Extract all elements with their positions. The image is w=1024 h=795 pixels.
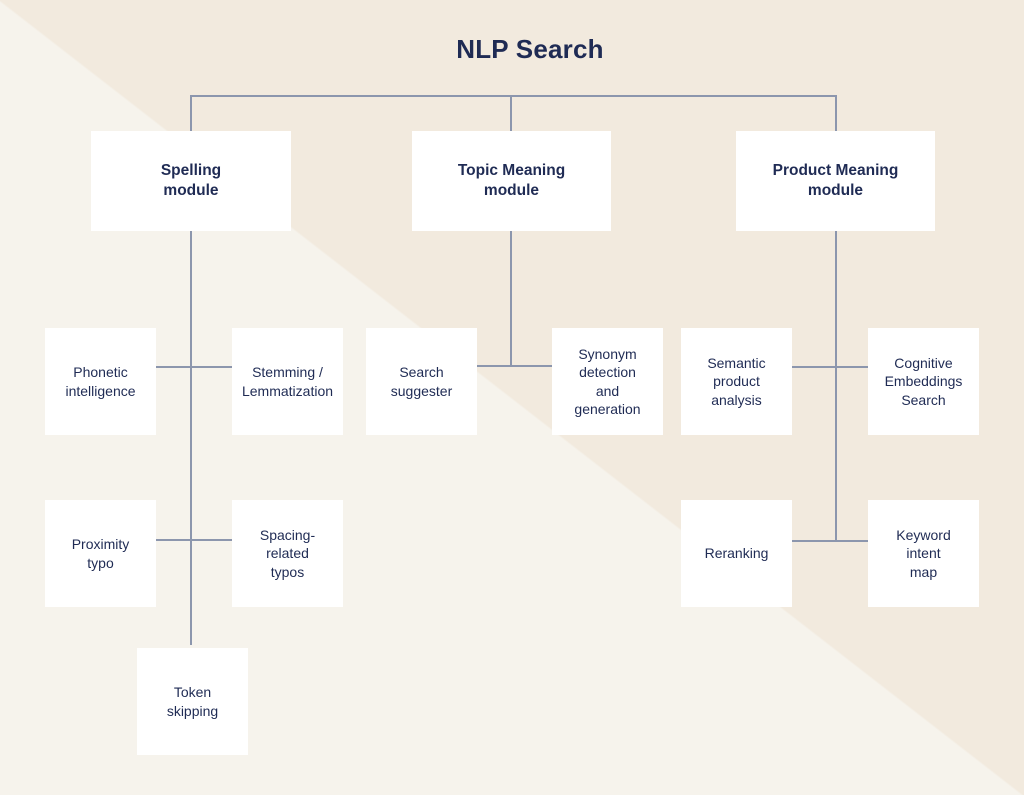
connector-branch-semantic-product-analysis — [792, 366, 835, 368]
module-box-product-meaning[interactable]: Product Meaning module — [736, 131, 935, 231]
leaf-box-proximity-typo[interactable]: Proximity typo — [45, 500, 156, 607]
connector-drop-product-meaning — [835, 95, 837, 132]
leaf-label-reranking: Reranking — [705, 544, 769, 562]
connector-branch-search-suggester — [477, 365, 511, 367]
leaf-box-semantic-product-analysis[interactable]: Semantic product analysis — [681, 328, 792, 435]
connector-branch-cognitive-embeddings-search — [835, 366, 869, 368]
leaf-box-search-suggester[interactable]: Search suggester — [366, 328, 477, 435]
connector-branch-stemming-lemmatization — [190, 366, 232, 368]
leaf-label-search-suggester: Search suggester — [391, 363, 452, 400]
connector-branch-keyword-intent-map — [835, 540, 869, 542]
leaf-box-cognitive-embeddings-search[interactable]: Cognitive Embeddings Search — [868, 328, 979, 435]
module-label-spelling: Spelling module — [161, 161, 221, 202]
connector-spine-topic-meaning — [510, 231, 512, 366]
module-label-product-meaning: Product Meaning module — [773, 161, 899, 202]
leaf-label-synonym-detection-and-generation: Synonym detection and generation — [574, 345, 640, 419]
leaf-box-spacing-related-typos[interactable]: Spacing- related typos — [232, 500, 343, 607]
diagram-canvas: NLP Search Spelling module Topic Meaning… — [0, 0, 1024, 795]
leaf-label-keyword-intent-map: Keyword intent map — [896, 526, 950, 581]
leaf-label-token-skipping: Token skipping — [167, 683, 218, 720]
module-label-topic-meaning: Topic Meaning module — [458, 161, 565, 202]
module-box-spelling[interactable]: Spelling module — [91, 131, 291, 231]
connector-drop-topic-meaning — [510, 95, 512, 132]
leaf-box-token-skipping[interactable]: Token skipping — [137, 648, 248, 755]
connector-branch-phonetic-intelligence — [156, 366, 192, 368]
leaf-box-keyword-intent-map[interactable]: Keyword intent map — [868, 500, 979, 607]
leaf-label-cognitive-embeddings-search: Cognitive Embeddings Search — [885, 354, 963, 409]
leaf-box-synonym-detection-and-generation[interactable]: Synonym detection and generation — [552, 328, 663, 435]
connector-spine-spelling — [190, 231, 192, 645]
leaf-label-proximity-typo: Proximity typo — [72, 535, 130, 572]
leaf-label-spacing-related-typos: Spacing- related typos — [260, 526, 315, 581]
connector-drop-spelling — [190, 95, 192, 132]
connector-branch-proximity-typo — [156, 539, 192, 541]
leaf-label-stemming-lemmatization: Stemming / Lemmatization — [242, 363, 333, 400]
module-box-topic-meaning[interactable]: Topic Meaning module — [412, 131, 611, 231]
leaf-box-phonetic-intelligence[interactable]: Phonetic intelligence — [45, 328, 156, 435]
connector-branch-reranking — [792, 540, 835, 542]
leaf-label-semantic-product-analysis: Semantic product analysis — [707, 354, 765, 409]
connector-branch-spacing-related-typos — [190, 539, 232, 541]
leaf-box-reranking[interactable]: Reranking — [681, 500, 792, 607]
page-title: NLP Search — [0, 34, 1024, 65]
leaf-label-phonetic-intelligence: Phonetic intelligence — [65, 363, 135, 400]
connector-top-bus — [190, 95, 837, 97]
connector-spine-product-meaning — [835, 231, 837, 541]
leaf-box-stemming-lemmatization[interactable]: Stemming / Lemmatization — [232, 328, 343, 435]
connector-branch-synonym-detection — [510, 365, 552, 367]
